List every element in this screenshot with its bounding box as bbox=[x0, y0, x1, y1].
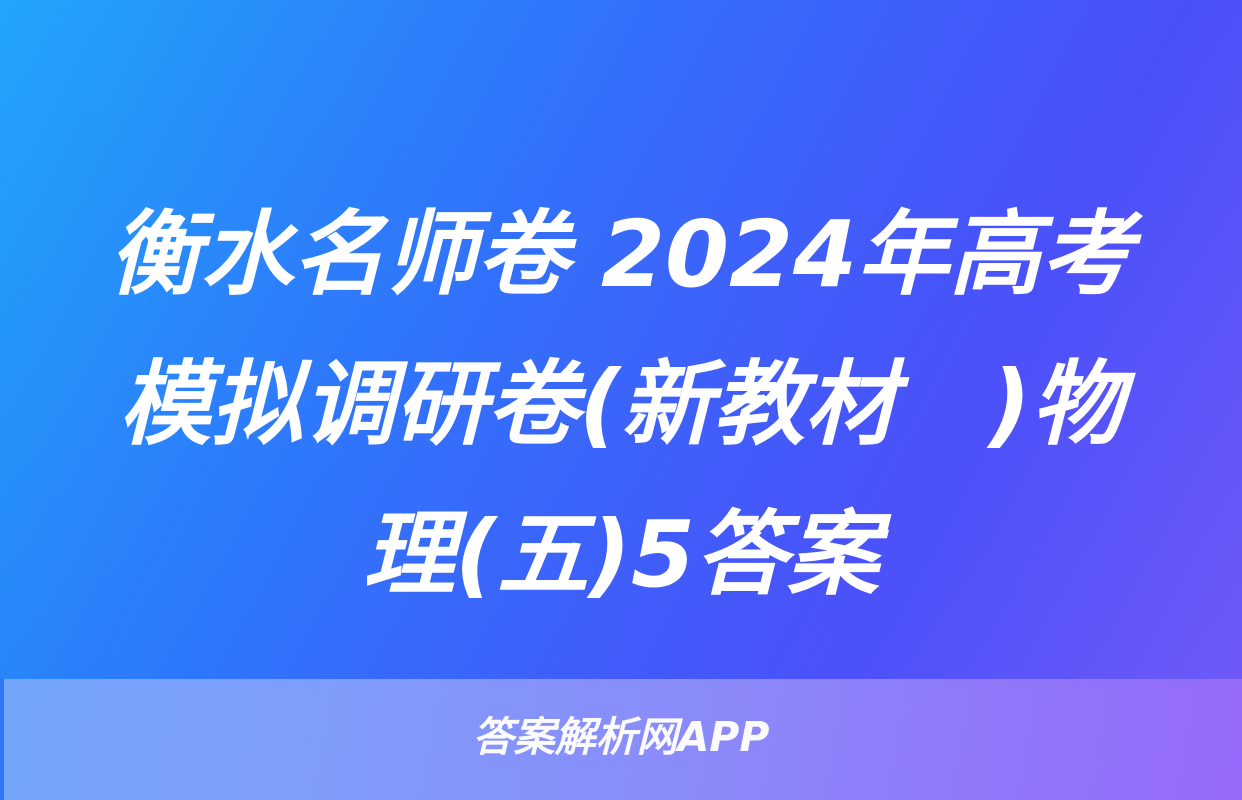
title-line-1: 衡水名师卷 2024年高考 bbox=[70, 180, 1172, 330]
footer-watermark-band: 答案解析网APP bbox=[0, 679, 1242, 800]
cover-card: 衡水名师卷 2024年高考 模拟调研卷(新教材 )物 理(五)5答案 答案解析网… bbox=[0, 0, 1242, 800]
page-title: 衡水名师卷 2024年高考 模拟调研卷(新教材 )物 理(五)5答案 bbox=[70, 180, 1172, 600]
title-line-3: 理(五)5答案 bbox=[70, 480, 1172, 630]
footer-left-accent-bar bbox=[0, 679, 4, 800]
watermark-label: 答案解析网APP bbox=[473, 717, 770, 758]
title-line-2: 模拟调研卷(新教材 )物 bbox=[70, 330, 1172, 480]
